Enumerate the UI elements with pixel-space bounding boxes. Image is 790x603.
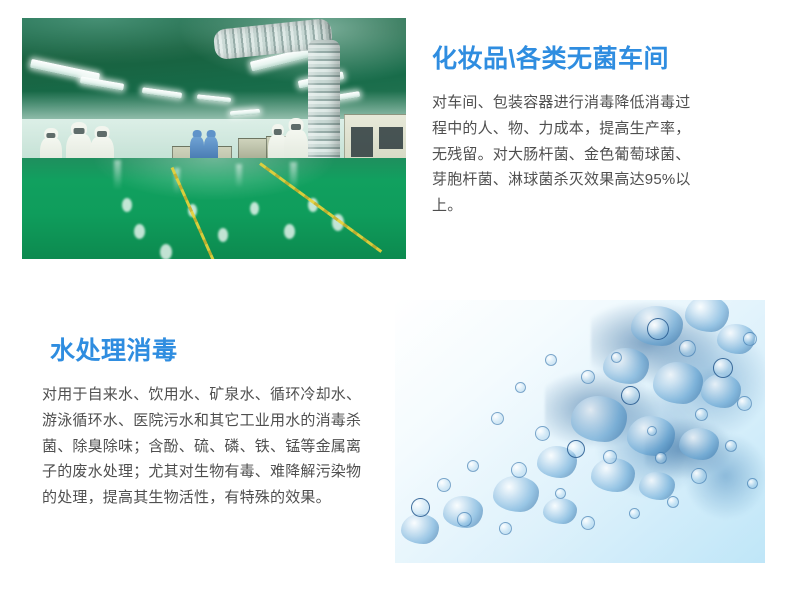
water-bubble xyxy=(629,508,640,519)
water-droplet xyxy=(603,348,649,384)
water-bubble xyxy=(555,488,566,499)
water-bubble xyxy=(545,354,557,366)
cleanroom-paragraph-text: 对车间、包装容器进行消毒降低消毒过程中的人、物、力成本，提高生产率，无残留。对大… xyxy=(432,90,697,219)
water-droplet xyxy=(679,428,719,460)
floor-guide-line xyxy=(259,162,382,253)
water-bubble xyxy=(667,496,679,508)
water-bubble xyxy=(647,426,657,436)
cleanroom-heading: 化妆品\各类无菌车间 xyxy=(432,44,697,74)
water-bubble xyxy=(725,440,737,452)
floor-reflection xyxy=(236,164,242,188)
water-photo xyxy=(395,300,765,563)
promo-page: 化妆品\各类无菌车间 对车间、包装容器进行消毒降低消毒过程中的人、物、力成本，提… xyxy=(0,0,790,603)
water-bubble xyxy=(411,498,430,517)
worker-mask xyxy=(74,128,85,134)
cleanroom-floor xyxy=(22,158,406,259)
floor-reflection xyxy=(114,160,121,190)
water-paragraph-text: 对用于自来水、饮用水、矿泉水、循环冷却水、游泳循环水、医院污水和其它工业用水的消… xyxy=(42,382,362,511)
water-bubble xyxy=(457,512,472,527)
cleanroom-paragraph: 对车间、包装容器进行消毒降低消毒过程中的人、物、力成本，提高生产率，无残留。对大… xyxy=(432,90,697,219)
water-droplet xyxy=(653,362,703,404)
water-bubble xyxy=(567,440,585,458)
floor-reflection xyxy=(122,198,132,212)
water-bubble xyxy=(467,460,479,472)
water-bubble xyxy=(621,386,640,405)
floor-reflection xyxy=(218,228,228,242)
water-bubble xyxy=(647,318,669,340)
water-bubble xyxy=(499,522,512,535)
water-droplet xyxy=(543,498,577,524)
water-bubble xyxy=(691,468,707,484)
floor-reflection xyxy=(134,224,145,239)
water-droplet xyxy=(701,374,741,408)
water-droplet xyxy=(627,416,675,456)
water-droplet xyxy=(401,514,439,544)
cleanroom-text-block: 化妆品\各类无菌车间 对车间、包装容器进行消毒降低消毒过程中的人、物、力成本，提… xyxy=(432,44,697,219)
water-text-block: 水处理消毒 对用于自来水、饮用水、矿泉水、循环冷却水、游泳循环水、医院污水和其它… xyxy=(42,336,362,511)
floor-reflection xyxy=(284,224,295,239)
water-droplet xyxy=(571,396,627,442)
water-bubble xyxy=(695,408,708,421)
water-bubble xyxy=(581,370,595,384)
floor-reflection xyxy=(250,202,259,215)
water-bubble xyxy=(437,478,451,492)
water-bubble xyxy=(743,332,757,346)
cleanroom-photo xyxy=(22,18,406,259)
water-bubble xyxy=(747,478,758,489)
water-bubble xyxy=(581,516,595,530)
water-bubble xyxy=(491,412,504,425)
machine-panel xyxy=(351,127,373,157)
water-bubble xyxy=(515,382,526,393)
water-heading: 水处理消毒 xyxy=(50,336,362,366)
water-bubble xyxy=(737,396,752,411)
worker-mask xyxy=(274,129,282,135)
water-bubble xyxy=(679,340,696,357)
machine-panel xyxy=(379,127,403,149)
water-bubble xyxy=(603,450,617,464)
water-bubble xyxy=(535,426,550,441)
water-bubble xyxy=(511,462,527,478)
water-splash xyxy=(395,300,765,563)
water-bubble xyxy=(713,358,733,378)
water-bubble xyxy=(655,452,667,464)
water-bubble xyxy=(611,352,622,363)
floor-guide-line xyxy=(171,167,227,259)
floor-reflection xyxy=(160,244,172,259)
water-droplet xyxy=(493,476,539,512)
water-paragraph: 对用于自来水、饮用水、矿泉水、循环冷却水、游泳循环水、医院污水和其它工业用水的消… xyxy=(42,382,362,511)
